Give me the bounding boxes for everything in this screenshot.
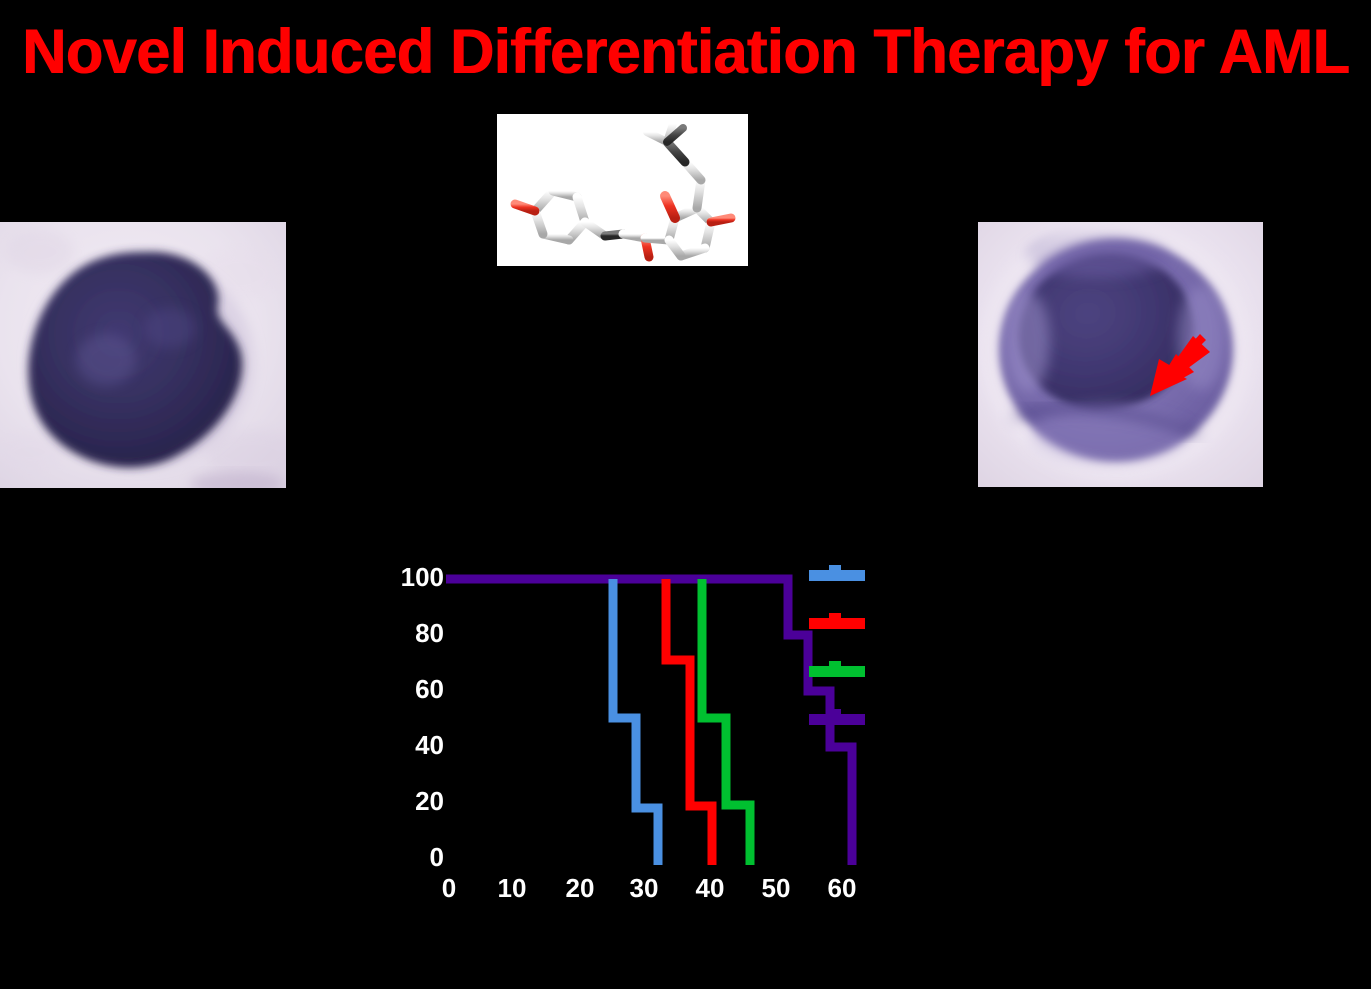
y-tick-0: 0 [430,842,444,872]
y-tick-40: 40 [415,730,444,760]
x-tick-40: 40 [696,873,725,903]
differentiated-cell-micrograph [978,222,1263,487]
y-tick-20: 20 [415,786,444,816]
molecule-svg [497,114,748,266]
x-tick-30: 30 [630,873,659,903]
y-tick-100: 100 [401,562,444,592]
blast-cell-micrograph [0,222,286,488]
differentiated-cell-svg [978,222,1263,487]
chemical-structure-image [497,114,748,266]
x-tick-10: 10 [498,873,527,903]
y-tick-80: 80 [415,618,444,648]
x-tick-60: 60 [828,873,857,903]
x-tick-50: 50 [762,873,791,903]
y-tick-60: 60 [415,674,444,704]
x-tick-20: 20 [566,873,595,903]
survival-curve-chart: 100 80 60 40 20 0 0 10 20 30 40 50 60 [390,545,890,905]
survival-chart-svg: 100 80 60 40 20 0 0 10 20 30 40 50 60 [390,545,890,905]
x-tick-0: 0 [442,873,456,903]
page-title: Novel Induced Differentiation Therapy fo… [21,14,1351,90]
blast-cell-svg [0,222,286,488]
